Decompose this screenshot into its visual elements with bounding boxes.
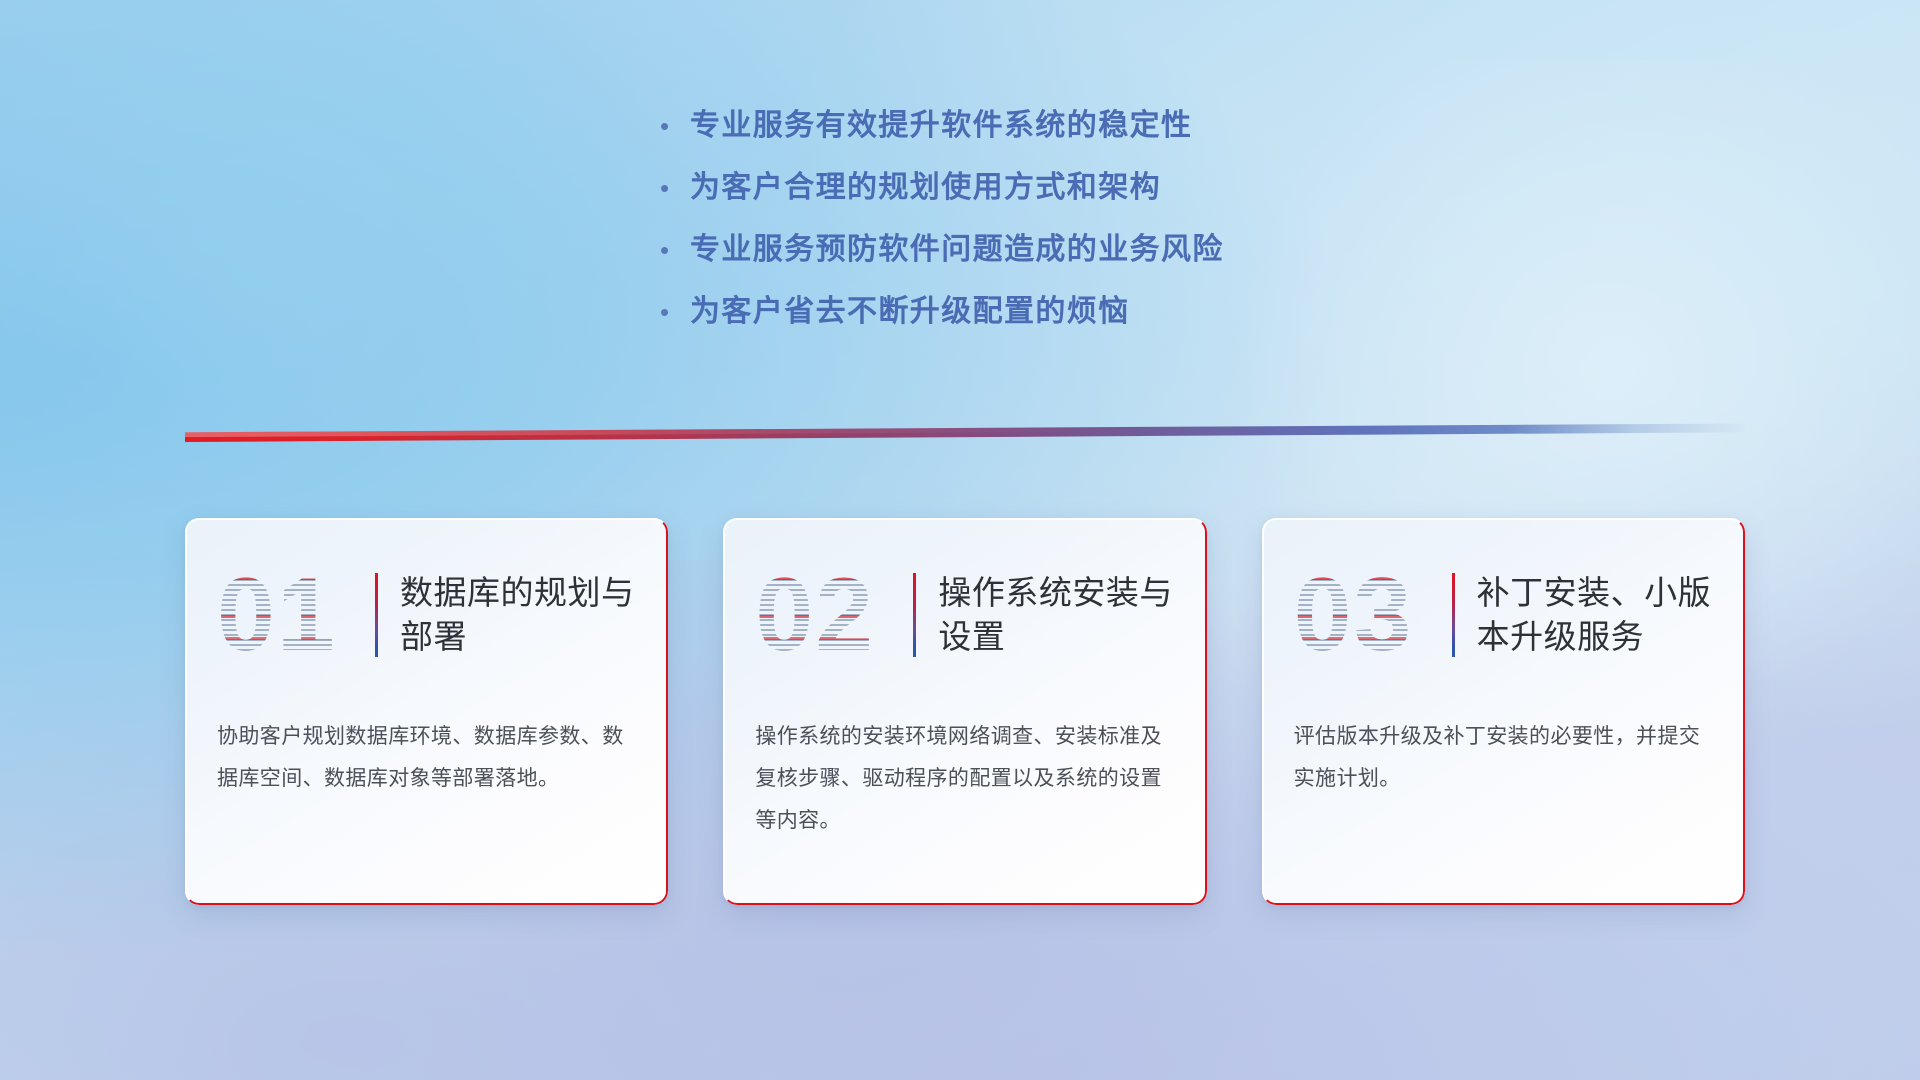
section-divider bbox=[185, 420, 1745, 442]
card-body-text: 评估版本升级及补丁安装的必要性，并提交实施计划。 bbox=[1262, 678, 1745, 800]
card-title: 数据库的规划与部署 bbox=[400, 571, 638, 658]
card-title-rule bbox=[913, 573, 916, 657]
service-card[interactable]: 01 01 数据库的规划与部署 协助客户规划数据库环境、数据库参数、数据库空间、… bbox=[185, 518, 668, 905]
service-card[interactable]: 02 02 操作系统安装与设置 操作系统的安装环境网络调查、安装标准及复核步骤、… bbox=[723, 518, 1206, 905]
card-number-block: 03 03 bbox=[1294, 559, 1444, 671]
card-number: 02 bbox=[755, 559, 905, 671]
bullet-dot-icon: • bbox=[660, 237, 690, 263]
divider-wedge bbox=[185, 420, 1745, 442]
bullet-dot-icon: • bbox=[660, 113, 690, 139]
card-header: 01 01 数据库的规划与部署 bbox=[185, 518, 668, 678]
bullet-text: 为客户合理的规划使用方式和架构 bbox=[690, 170, 1161, 206]
card-number: 03 bbox=[1294, 559, 1444, 671]
bullet-item: • 专业服务有效提升软件系统的稳定性 bbox=[660, 108, 1560, 144]
background-glow-left bbox=[0, 0, 740, 600]
card-header: 03 03 补丁安装、小版本升级服务 bbox=[1262, 518, 1745, 678]
bullet-text: 为客户省去不断升级配置的烦恼 bbox=[690, 294, 1130, 330]
card-title: 补丁安装、小版本升级服务 bbox=[1477, 571, 1715, 658]
card-title-rule bbox=[375, 573, 378, 657]
card-title: 操作系统安装与设置 bbox=[938, 571, 1176, 658]
bullet-dot-icon: • bbox=[660, 299, 690, 325]
service-card[interactable]: 03 03 补丁安装、小版本升级服务 评估版本升级及补丁安装的必要性，并提交实施… bbox=[1262, 518, 1745, 905]
card-number-block: 02 02 bbox=[755, 559, 905, 671]
card-number-block: 01 01 bbox=[217, 559, 367, 671]
bullet-item: • 为客户省去不断升级配置的烦恼 bbox=[660, 294, 1560, 330]
service-card-list: 01 01 数据库的规划与部署 协助客户规划数据库环境、数据库参数、数据库空间、… bbox=[185, 518, 1745, 905]
card-title-rule bbox=[1452, 573, 1455, 657]
card-number: 01 bbox=[217, 559, 367, 671]
bullet-item: • 专业服务预防软件问题造成的业务风险 bbox=[660, 232, 1560, 268]
card-header: 02 02 操作系统安装与设置 bbox=[723, 518, 1206, 678]
bullet-item: • 为客户合理的规划使用方式和架构 bbox=[660, 170, 1560, 206]
bullet-text: 专业服务预防软件问题造成的业务风险 bbox=[690, 232, 1224, 268]
card-body-text: 操作系统的安装环境网络调查、安装标准及复核步骤、驱动程序的配置以及系统的设置等内… bbox=[723, 678, 1206, 842]
bullet-text: 专业服务有效提升软件系统的稳定性 bbox=[690, 108, 1192, 144]
slide-stage: • 专业服务有效提升软件系统的稳定性 • 为客户合理的规划使用方式和架构 • 专… bbox=[0, 0, 1920, 1080]
bullet-dot-icon: • bbox=[660, 175, 690, 201]
card-body-text: 协助客户规划数据库环境、数据库参数、数据库空间、数据库对象等部署落地。 bbox=[185, 678, 668, 800]
benefits-bullet-list: • 专业服务有效提升软件系统的稳定性 • 为客户合理的规划使用方式和架构 • 专… bbox=[660, 108, 1560, 356]
